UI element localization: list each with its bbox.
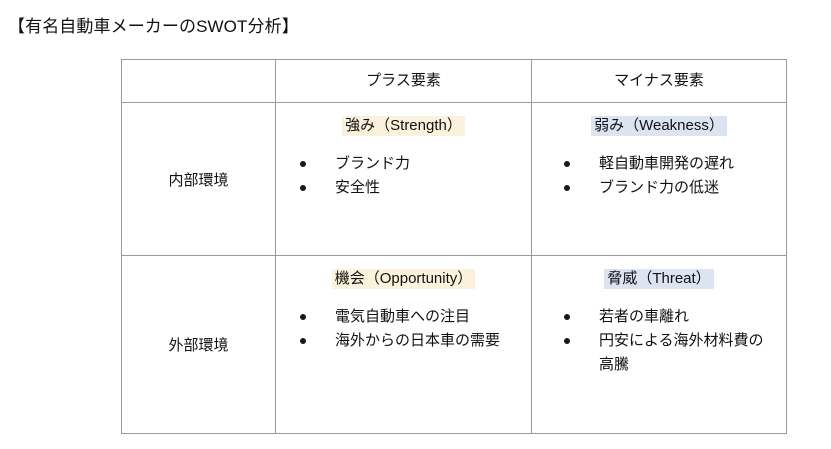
quadrant-heading-threat: 脅威（Threat） [542,268,776,289]
row-label-cell-external: 外部環境 [122,256,276,434]
list-item: 軽自動車開発の遅れ [564,152,776,176]
bullet-list-weakness: 軽自動車開発の遅れ ブランド力の低迷 [542,152,776,200]
quadrant-heading-strength-text: 強み（Strength） [342,116,465,136]
bullet-list-threat: 若者の車離れ 円安による海外材料費の高騰 [542,305,776,377]
list-item: 若者の車離れ [564,305,776,329]
header-cell-minus: マイナス要素 [532,60,787,103]
quadrant-cell-threat: 脅威（Threat） 若者の車離れ 円安による海外材料費の高騰 [532,256,787,434]
quadrant-cell-weakness: 弱み（Weakness） 軽自動車開発の遅れ ブランド力の低迷 [532,103,787,256]
quadrant-heading-weakness: 弱み（Weakness） [542,115,776,136]
list-item: 円安による海外材料費の高騰 [564,329,776,377]
quadrant-heading-weakness-text: 弱み（Weakness） [591,116,727,136]
swot-matrix-table: プラス要素 マイナス要素 内部環境 強み（Strength） ブランド力 [121,59,787,434]
header-corner-cell [122,60,276,103]
column-header-plus: プラス要素 [276,60,531,102]
list-item: ブランド力 [300,152,521,176]
bullet-list-opportunity: 電気自動車への注目 海外からの日本車の需要 [286,305,521,353]
quadrant-cell-strength: 強み（Strength） ブランド力 安全性 [276,103,532,256]
list-item: 電気自動車への注目 [300,305,521,329]
list-item: 海外からの日本車の需要 [300,329,521,353]
quadrant-cell-opportunity: 機会（Opportunity） 電気自動車への注目 海外からの日本車の需要 [276,256,532,434]
header-cell-plus: プラス要素 [276,60,532,103]
row-label-internal: 内部環境 [168,169,228,190]
list-item: 安全性 [300,176,521,200]
bullet-list-strength: ブランド力 安全性 [286,152,521,200]
table-row-external: 外部環境 機会（Opportunity） 電気自動車への注目 海外からの日本車の… [122,256,787,434]
quadrant-heading-threat-text: 脅威（Threat） [604,269,713,289]
quadrant-heading-strength: 強み（Strength） [286,115,521,136]
row-label-cell-internal: 内部環境 [122,103,276,256]
quadrant-heading-opportunity: 機会（Opportunity） [286,268,521,289]
column-header-minus: マイナス要素 [532,60,786,102]
quadrant-heading-opportunity-text: 機会（Opportunity） [332,269,476,289]
list-item: ブランド力の低迷 [564,176,776,200]
table-row-internal: 内部環境 強み（Strength） ブランド力 安全性 弱み（We [122,103,787,256]
row-label-external: 外部環境 [168,334,228,355]
page-title: 【有名自動車メーカーのSWOT分析】 [8,16,299,38]
table-header-row: プラス要素 マイナス要素 [122,60,787,103]
